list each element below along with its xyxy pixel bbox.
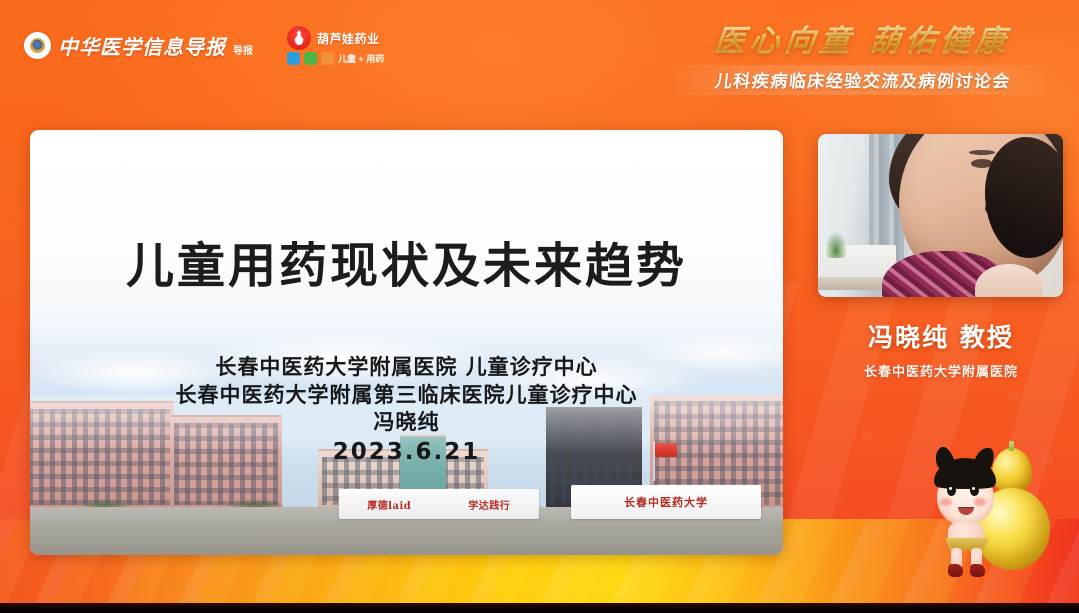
mascot-eye-right [970, 485, 979, 496]
event-banner-subtitle: 儿科疾病临床经验交流及病例讨论会 [714, 67, 1013, 92]
mascot-boot-left [948, 564, 963, 577]
slide-title: 儿童用药现状及未来趋势 [30, 226, 783, 296]
cma-seal-icon [24, 32, 51, 59]
hulu-logo-name: 葫芦娃药业 [317, 30, 380, 47]
spark-square-icon [862, 430, 872, 440]
slide-line-4: 2023.6.21 [30, 437, 783, 467]
spark-square-icon [838, 498, 845, 505]
event-banner-subtitle-bar: 儿科疾病临床经验交流及病例讨论会 [667, 65, 1059, 95]
hulu-logo-bottom: 儿童 + 用药 [287, 52, 384, 65]
chip-green-icon [304, 52, 317, 65]
hulu-flame-icon [287, 26, 311, 50]
mascot-body [926, 458, 1010, 576]
cma-logo-text: 中华医学信息导报 [58, 31, 226, 60]
spark-square-icon [906, 468, 914, 476]
header-logo-row: 中华医学信息导报 导报 葫芦娃药业 儿童 + 用药 [24, 26, 384, 65]
speaker-organization: 长春中医药大学附属医院 [812, 361, 1070, 380]
cma-logo-suffix: 导报 [233, 42, 253, 57]
mascot-cheek-left [940, 498, 952, 506]
slide-subtitle-block: 长春中医药大学附属医院 儿童诊疗中心 长春中医药大学附属第三临床医院儿童诊疗中心… [30, 354, 783, 468]
mascot-cheek-right [974, 498, 986, 506]
spark-square-icon [1010, 392, 1019, 401]
calabash-boy-mascot [926, 440, 1056, 580]
event-banner: 医心向童 葫佑健康 儿科疾病临床经验交流及病例讨论会 [667, 16, 1059, 95]
slide-line-2: 长春中医药大学附属第三临床医院儿童诊疗中心 [30, 382, 783, 410]
presentation-slide[interactable]: 厚德laid 学达践行 长春中医药大学 儿童用药现状及未来趋势 长春中医药大学附… [30, 130, 783, 555]
speaker-name: 冯晓纯 教授 [812, 318, 1070, 354]
logo-hulu-pharma: 葫芦娃药业 儿童 + 用药 [287, 26, 384, 65]
broadcast-stage: 中华医学信息导报 导报 葫芦娃药业 儿童 + 用药 医心向童 葫佑健康 儿科疾病… [0, 0, 1079, 613]
mascot-eye-left [947, 485, 956, 496]
hulu-logo-top: 葫芦娃药业 [287, 26, 384, 50]
speaker-info: 冯晓纯 教授 长春中医药大学附属医院 [812, 318, 1070, 380]
mascot-boot-right [970, 564, 985, 577]
slide-line-3: 冯晓纯 [30, 409, 783, 437]
event-banner-title: 医心向童 葫佑健康 [709, 16, 1017, 60]
video-plant-icon [825, 232, 847, 258]
logo-chinese-medical-association: 中华医学信息导报 导报 [24, 31, 253, 60]
slide-line-1: 长春中医药大学附属医院 儿童诊疗中心 [30, 354, 783, 382]
chip-orange-icon [321, 52, 334, 65]
bottom-dark-strip [0, 603, 1079, 613]
speaker-brow-left [969, 150, 995, 155]
speaker-video-panel[interactable] [818, 134, 1063, 297]
hulu-logo-tagline: 儿童 + 用药 [338, 52, 384, 65]
chip-blue-icon [287, 52, 300, 65]
